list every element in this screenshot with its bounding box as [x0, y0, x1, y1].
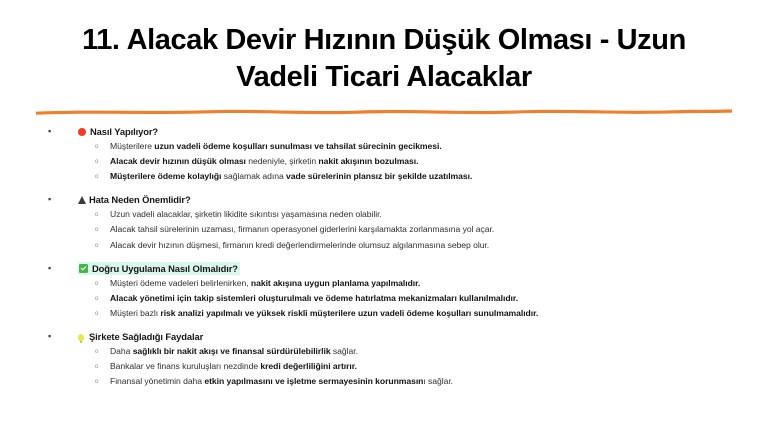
bullet-marker-level2: o	[95, 276, 98, 291]
bullet-marker-level2: o	[95, 207, 98, 222]
section-sirkete-sagladigi-faydalar: ▪ Şirkete Sağladığı Faydalar o Daha sağl…	[0, 329, 768, 389]
title-block: 11.Alacak Devir Hızının Düşük Olması - U…	[0, 0, 768, 95]
text-run: Alacak devir hızının düşmesi, firmanın k…	[110, 240, 489, 250]
text-run: Müşteri bazlı	[110, 308, 160, 318]
text-run: ı sağlar.	[423, 376, 453, 386]
bullet-marker-level2: o	[95, 154, 98, 169]
list-item: o Müşterilere ödeme kolaylığı sağlamak a…	[0, 169, 768, 184]
section-heading-label: Şirkete Sağladığı Faydalar	[89, 331, 203, 342]
bullet-marker-level2: o	[95, 359, 98, 374]
list-item: o Alacak devir hızının düşmesi, firmanın…	[0, 238, 768, 253]
text-run: uzun vadeli ödeme koşulları sunulması ve…	[154, 141, 441, 151]
section-heading: ▪ Şirkete Sağladığı Faydalar	[0, 329, 768, 344]
text-run: Müşterilere ödeme kolaylığı	[110, 171, 221, 181]
text-run: Alacak tahsil sürelerinin uzaması, firma…	[110, 224, 494, 234]
title-text: Alacak Devir Hızının Düşük Olması - Uzun…	[127, 24, 686, 93]
green-check-icon	[79, 264, 88, 273]
bullet-marker-level2: o	[95, 374, 98, 389]
page-title: 11.Alacak Devir Hızının Düşük Olması - U…	[62, 22, 706, 95]
text-run: Alacak yönetimi için takip sistemleri ol…	[110, 293, 518, 303]
text-run: Alacak devir hızının düşük olması	[110, 156, 246, 166]
bullet-marker-level2: o	[95, 169, 98, 184]
bullet-marker-level2: o	[95, 222, 98, 237]
text-run: Finansal yönetimin daha	[110, 376, 204, 386]
red-circle-icon	[78, 128, 86, 136]
bullet-marker-level1: ▪	[48, 261, 51, 276]
bullet-marker-level2: o	[95, 238, 98, 253]
title-number: 11.	[82, 24, 120, 56]
bullet-marker-level1: ▪	[48, 192, 51, 207]
section-nasil-yapiliyor: ▪ Nasıl Yapılıyor? o Müşterilere uzun va…	[0, 124, 768, 184]
text-run: etkin yapılmasını ve işletme sermayesini…	[204, 376, 423, 386]
list-item: o Finansal yönetimin daha etkin yapılmas…	[0, 374, 768, 389]
text-run: sağlıklı bir nakit akışı ve finansal sür…	[133, 346, 331, 356]
lightbulb-icon	[78, 334, 84, 341]
text-run: sağlamak adına	[221, 171, 286, 181]
text-run: Müşteri ödeme vadeleri belirlenirken,	[110, 278, 251, 288]
section-dogru-uygulama: ▪ Doğru Uygulama Nasıl Olmalıdır? o Müşt…	[0, 261, 768, 321]
list-item: o Alacak yönetimi için takip sistemleri …	[0, 291, 768, 306]
bullet-marker-level1: ▪	[48, 124, 51, 139]
text-run: vade sürelerinin plansız bir şekilde uza…	[286, 171, 472, 181]
section-heading-label: Doğru Uygulama Nasıl Olmalıdır?	[92, 263, 238, 274]
text-run: sağlar.	[331, 346, 358, 356]
bullet-marker-level1: ▪	[48, 329, 51, 344]
warning-triangle-icon	[78, 196, 86, 204]
list-item: o Daha sağlıklı bir nakit akışı ve finan…	[0, 344, 768, 359]
bullet-marker-level2: o	[95, 291, 98, 306]
text-run: nakit akışının bozulması.	[318, 156, 418, 166]
list-item: o Bankalar ve finans kuruluşları nezdind…	[0, 359, 768, 374]
bullet-marker-level2: o	[95, 344, 98, 359]
text-run: kredi değerliliğini artırır.	[260, 361, 357, 371]
text-run: Uzun vadeli alacaklar, şirketin likidite…	[110, 209, 382, 219]
slide-canvas: 11.Alacak Devir Hızının Düşük Olması - U…	[0, 0, 768, 431]
list-item: o Müşteri ödeme vadeleri belirlenirken, …	[0, 276, 768, 291]
bullet-marker-level2: o	[95, 139, 98, 154]
section-heading-label: Hata Neden Önemlidir?	[89, 194, 191, 205]
text-run: nakit akışına uygun planlama yapılmalıdı…	[251, 278, 420, 288]
section-heading: ▪ Doğru Uygulama Nasıl Olmalıdır?	[0, 261, 768, 276]
section-heading: ▪ Nasıl Yapılıyor?	[0, 124, 768, 139]
list-item: o Alacak tahsil sürelerinin uzaması, fir…	[0, 222, 768, 237]
text-run: risk analizi yapılmalı ve yüksek riskli …	[160, 308, 538, 318]
text-run: Bankalar ve finans kuruluşları nezdinde	[110, 361, 260, 371]
list-item: o Müşteri bazlı risk analizi yapılmalı v…	[0, 306, 768, 321]
text-run: Daha	[110, 346, 133, 356]
bullet-marker-level2: o	[95, 306, 98, 321]
orange-brush-divider	[0, 104, 768, 116]
section-heading: ▪ Hata Neden Önemlidir?	[0, 192, 768, 207]
text-run: nedeniyle, şirketin	[246, 156, 319, 166]
list-item: o Uzun vadeli alacaklar, şirketin likidi…	[0, 207, 768, 222]
section-hata-neden-onemlidir: ▪ Hata Neden Önemlidir? o Uzun vadeli al…	[0, 192, 768, 252]
list-item: o Alacak devir hızının düşük olması nede…	[0, 154, 768, 169]
text-run: Müşterilere	[110, 141, 154, 151]
content-body: ▪ Nasıl Yapılıyor? o Müşterilere uzun va…	[0, 116, 768, 389]
section-heading-label: Nasıl Yapılıyor?	[90, 126, 158, 137]
list-item: o Müşterilere uzun vadeli ödeme koşullar…	[0, 139, 768, 154]
